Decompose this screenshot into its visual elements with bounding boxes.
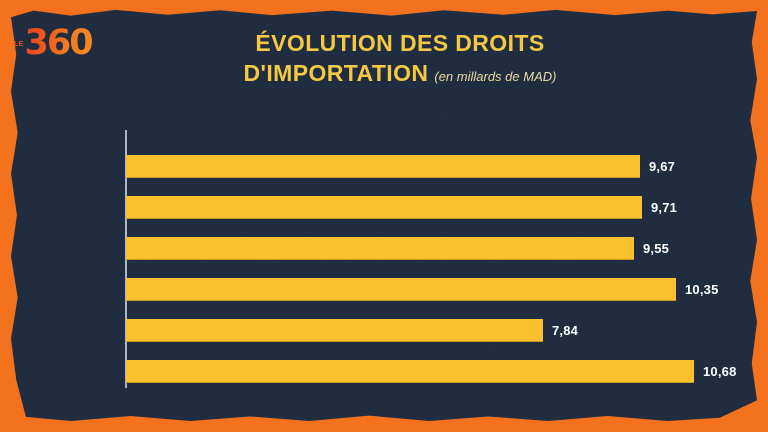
page-title-line-2: D'IMPORTATION	[244, 60, 429, 86]
bar-value-label: 9,55	[643, 237, 669, 260]
bar-value-label: 10,68	[703, 360, 737, 383]
logo-name-text: 360	[25, 27, 92, 60]
bar	[126, 155, 640, 178]
bar-value-label: 9,71	[651, 196, 677, 219]
bar	[126, 237, 634, 260]
logo-prefix-text: LE	[14, 41, 24, 48]
page-title-line-1: ÉVOLUTION DES DROITS	[200, 28, 600, 58]
le360-logo: LE 360	[14, 27, 100, 67]
bar-value-label: 9,67	[649, 155, 675, 178]
infographic-stage: LE 360 ÉVOLUTION DES DROITS D'IMPORTATIO…	[0, 0, 768, 432]
bar	[126, 319, 543, 342]
page-title-line-2-row: D'IMPORTATION(en millards de MAD)	[200, 58, 600, 88]
bar-chart: Exécution 20189,67PLF 20189,71PLF 20199,…	[0, 125, 768, 393]
bar-value-label: 7,84	[552, 319, 578, 342]
bar-value-label: 10,35	[685, 278, 719, 301]
bar	[126, 278, 676, 301]
page-subtitle: (en millards de MAD)	[434, 69, 556, 84]
bar	[126, 360, 694, 383]
header-title-block: ÉVOLUTION DES DROITS D'IMPORTATION(en mi…	[200, 28, 600, 89]
bar	[126, 196, 642, 219]
